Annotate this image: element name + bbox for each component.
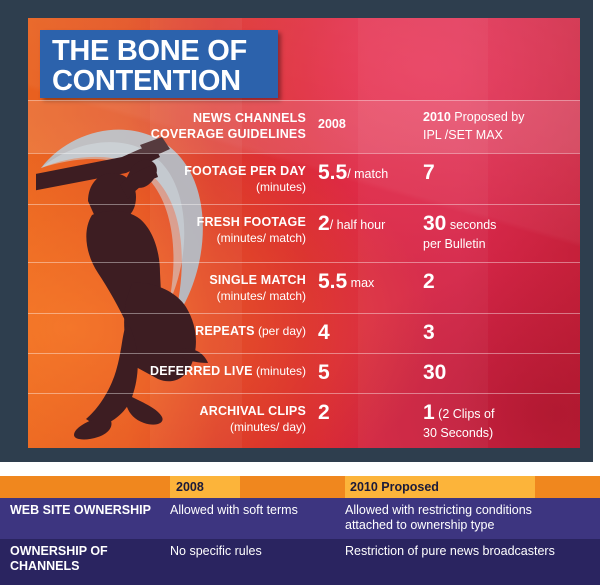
row-value-2008: 5.5/ match xyxy=(318,154,423,193)
table-row: FRESH FOOTAGE (minutes/ match) 2/ half h… xyxy=(28,204,580,262)
row-value-2008: 5 xyxy=(318,354,423,393)
ownership-header-row: 2008 2010 Proposed xyxy=(0,476,600,498)
row-value-2008: 2/ half hour xyxy=(318,205,423,244)
guidelines-header-row: NEWS CHANNELS COVERAGE GUIDELINES 2008 2… xyxy=(28,100,580,153)
ownership-row-2008: No specific rules xyxy=(170,539,345,565)
ownership-row-2008: Allowed with soft terms xyxy=(170,498,345,524)
row-value-2008: 5.5 max xyxy=(318,263,423,302)
row-label: FOOTAGE PER DAY (minutes) xyxy=(28,154,318,204)
ownership-header-2008: 2008 xyxy=(176,476,204,498)
ownership-row-label-line1: OWNERSHIP OF xyxy=(10,544,108,558)
guidelines-header-label-line1: NEWS CHANNELS xyxy=(193,111,306,125)
guidelines-header-2008: 2008 xyxy=(318,101,423,142)
row-label: REPEATS (per day) xyxy=(28,314,318,348)
guidelines-header-2010-year: 2010 xyxy=(423,110,451,124)
row-value-2008: 2 xyxy=(318,394,423,433)
row-label: FRESH FOOTAGE (minutes/ match) xyxy=(28,205,318,255)
ownership-row-2010-line2: attached to ownership type xyxy=(345,518,494,532)
page-title: THE BONE OF CONTENTION xyxy=(40,30,278,98)
guidelines-table: NEWS CHANNELS COVERAGE GUIDELINES 2008 2… xyxy=(28,100,580,451)
table-row: SINGLE MATCH (minutes/ match) 5.5 max 2 xyxy=(28,262,580,313)
title-line-1: THE BONE OF xyxy=(52,36,278,66)
ownership-row-label: WEB SITE OWNERSHIP xyxy=(0,498,170,524)
row-label: DEFERRED LIVE (minutes) xyxy=(28,354,318,388)
title-line-2: CONTENTION xyxy=(52,66,278,96)
guidelines-header-2010-rest: Proposed by xyxy=(451,110,525,124)
table-row: FOOTAGE PER DAY (minutes) 5.5/ match 7 xyxy=(28,153,580,204)
table-row: REPEATS (per day) 4 3 xyxy=(28,313,580,353)
ownership-header-2010: 2010 Proposed xyxy=(350,476,439,498)
ownership-row: WEB SITE OWNERSHIP Allowed with soft ter… xyxy=(0,498,600,539)
guidelines-header-label-line2: COVERAGE GUIDELINES xyxy=(151,127,306,141)
table-row: ARCHIVAL CLIPS (minutes/ day) 2 1 (2 Cli… xyxy=(28,393,580,451)
guidelines-header-2010: 2010 Proposed by IPL /SET MAX xyxy=(423,101,580,153)
ownership-row-2010-line1: Allowed with restricting conditions xyxy=(345,503,532,517)
table-row: DEFERRED LIVE (minutes) 5 30 xyxy=(28,353,580,393)
row-value-2010: 3 xyxy=(423,314,580,353)
row-label: ARCHIVAL CLIPS (minutes/ day) xyxy=(28,394,318,444)
row-value-2010: 7 xyxy=(423,154,580,193)
ownership-row-2010: Allowed with restricting conditions atta… xyxy=(345,498,600,539)
row-value-2010: 2 xyxy=(423,263,580,302)
row-value-2010: 30 seconds per Bulletin xyxy=(423,205,580,262)
guidelines-header-2010-line2: IPL /SET MAX xyxy=(423,128,503,142)
ownership-table: 2008 2010 Proposed WEB SITE OWNERSHIP Al… xyxy=(0,476,600,585)
ownership-row-label-line2: CHANNELS xyxy=(10,559,79,573)
row-label: SINGLE MATCH (minutes/ match) xyxy=(28,263,318,313)
row-value-2008: 4 xyxy=(318,314,423,353)
infographic-root: THE BONE OF CONTENTION NEWS CHANNELS COV… xyxy=(0,0,600,585)
ownership-row-label: OWNERSHIP OF CHANNELS xyxy=(0,539,170,580)
guidelines-header-label: NEWS CHANNELS COVERAGE GUIDELINES xyxy=(28,101,318,151)
row-value-2010: 1 (2 Clips of 30 Seconds) xyxy=(423,394,580,451)
ownership-row-2010: Restriction of pure news broadcasters xyxy=(345,539,600,565)
row-value-2010: 30 xyxy=(423,354,580,393)
ownership-row: OWNERSHIP OF CHANNELS No specific rules … xyxy=(0,539,600,585)
